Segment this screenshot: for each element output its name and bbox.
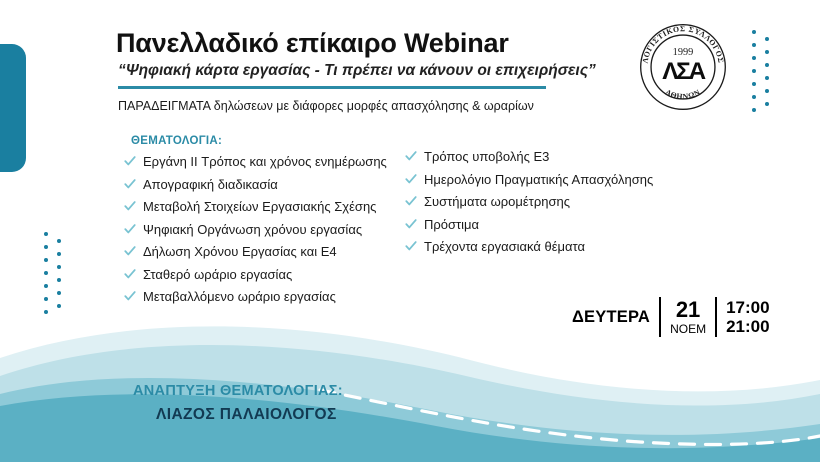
page-title: Πανελλαδικό επίκαιρο Webinar (116, 28, 509, 59)
topic-item: Μεταβολή Στοιχείων Εργασιακής Σχέσης (124, 199, 387, 214)
topic-label: Εργάνη II Τρόπος και χρόνος ενημέρωσης (143, 154, 387, 169)
schedule-divider-left (659, 297, 661, 337)
dashed-curve (320, 390, 820, 444)
check-icon (124, 223, 136, 235)
wave-layer-pale-top (0, 326, 820, 462)
logo-arc-text-bottom: ΑΘΗΝΩΝ (664, 87, 702, 101)
check-icon (405, 218, 417, 230)
check-icon (124, 245, 136, 257)
topic-label: Ψηφιακή Οργάνωση χρόνου εργασίας (143, 222, 362, 237)
topic-label: Πρόστιμα (424, 217, 479, 232)
schedule-day: 21 (676, 299, 700, 321)
topic-item: Ψηφιακή Οργάνωση χρόνου εργασίας (124, 222, 387, 237)
schedule-times: 17:00 21:00 (726, 298, 769, 336)
lsa-association-logo: ΛΟΓΙΣΤΙΚΟΣ ΣΥΛΛΟΓΟΣ ΑΘΗΝΩΝ 1999 ΛΣΑ (636, 20, 730, 114)
topic-label: Τρόπος υποβολής Ε3 (424, 149, 549, 164)
check-icon (124, 178, 136, 190)
topic-item: Δήλωση Χρόνου Εργασίας και Ε4 (124, 244, 387, 259)
topics-column-left: Εργάνη II Τρόπος και χρόνος ενημέρωσης Α… (124, 154, 387, 312)
topics-heading: ΘΕΜΑΤΟΛΟΓΙΑ: (131, 135, 222, 147)
logo-year: 1999 (673, 47, 694, 58)
wave-layer-main (0, 394, 820, 462)
topic-item: Απογραφική διαδικασία (124, 177, 387, 192)
speaker-name: ΛΙΑΖΟΣ ΠΑΛΑΙΟΛΟΓΟΣ (156, 406, 337, 424)
topic-item: Σταθερό ωράριο εργασίας (124, 267, 387, 282)
check-icon (405, 150, 417, 162)
topic-label: Μεταβολή Στοιχείων Εργασιακής Σχέσης (143, 199, 376, 214)
title-divider (118, 86, 546, 89)
schedule-bar: ΔΕΥΤΕΡΑ 21 ΝΟΕΜ 17:00 21:00 (572, 297, 770, 337)
check-icon (124, 268, 136, 280)
dot-pattern-right (752, 30, 769, 112)
schedule-month: ΝΟΕΜ (670, 323, 706, 335)
wave-layer-pale (0, 345, 820, 462)
schedule-time-end: 21:00 (726, 317, 769, 336)
left-accent-bar (0, 44, 26, 172)
schedule-time-start: 17:00 (726, 298, 769, 317)
topic-item: Ημερολόγιο Πραγματικής Απασχόλησης (405, 172, 653, 187)
dot-pattern-left (44, 232, 61, 314)
check-icon (124, 200, 136, 212)
topic-label: Τρέχοντα εργασιακά θέματα (424, 239, 585, 254)
check-icon (405, 173, 417, 185)
check-icon (124, 155, 136, 167)
topic-item: Μεταβαλλόμενο ωράριο εργασίας (124, 289, 387, 304)
topic-label: Συστήματα ωρομέτρησης (424, 194, 570, 209)
schedule-weekday: ΔΕΥΤΕΡΑ (572, 308, 650, 327)
page-subtitle: “Ψηφιακή κάρτα εργασίας - Τι πρέπει να κ… (118, 62, 596, 80)
examples-line: ΠΑΡΑΔΕΙΓΜΑΤΑ δηλώσεων με διάφορες μορφές… (118, 99, 534, 113)
schedule-date: 21 ΝΟΕΜ (670, 299, 706, 335)
webinar-poster: ΛΟΓΙΣΤΙΚΟΣ ΣΥΛΛΟΓΟΣ ΑΘΗΝΩΝ 1999 ΛΣΑ Πανε… (0, 0, 820, 462)
topic-label: Δήλωση Χρόνου Εργασίας και Ε4 (143, 244, 337, 259)
topic-label: Απογραφική διαδικασία (143, 177, 278, 192)
schedule-divider-right (715, 297, 717, 337)
topic-label: Μεταβαλλόμενο ωράριο εργασίας (143, 289, 336, 304)
topic-item: Τρέχοντα εργασιακά θέματα (405, 239, 653, 254)
topic-item: Συστήματα ωρομέτρησης (405, 194, 653, 209)
check-icon (124, 290, 136, 302)
topic-label: Ημερολόγιο Πραγματικής Απασχόλησης (424, 172, 653, 187)
check-icon (405, 240, 417, 252)
check-icon (405, 195, 417, 207)
topics-column-right: Τρόπος υποβολής Ε3 Ημερολόγιο Πραγματική… (405, 149, 653, 262)
speaker-label: ΑΝΑΠΤΥΞΗ ΘΕΜΑΤΟΛΟΓΙΑΣ: (133, 383, 343, 399)
wave-layer-mid (0, 378, 820, 462)
topic-item: Εργάνη II Τρόπος και χρόνος ενημέρωσης (124, 154, 387, 169)
topic-item: Τρόπος υποβολής Ε3 (405, 149, 653, 164)
topic-label: Σταθερό ωράριο εργασίας (143, 267, 292, 282)
logo-monogram: ΛΣΑ (662, 58, 705, 85)
topic-item: Πρόστιμα (405, 217, 653, 232)
